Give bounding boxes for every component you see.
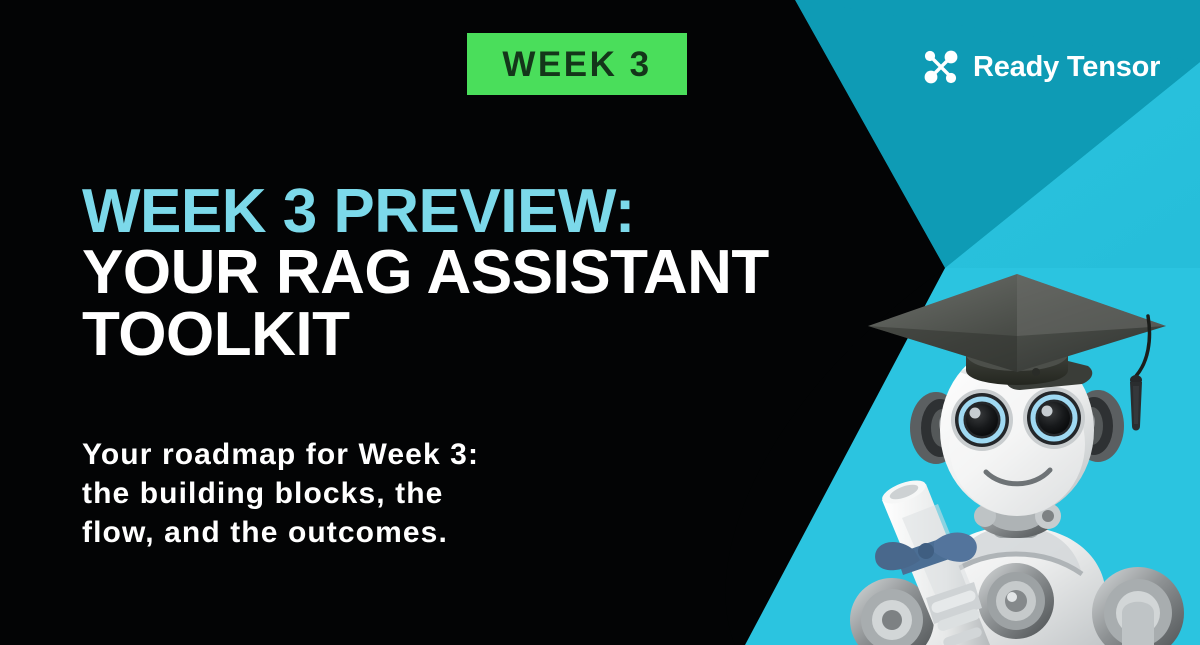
node-network-icon: [921, 47, 961, 87]
brand-logo-text: Ready Tensor: [973, 53, 1160, 82]
subtitle-line-2: the building blocks, the: [82, 474, 702, 513]
subtitle-line-1: Your roadmap for Week 3:: [82, 435, 702, 474]
subtitle: Your roadmap for Week 3: the building bl…: [82, 435, 702, 552]
headline-line-2: YOUR RAG ASSISTANT: [82, 242, 862, 303]
banner-canvas: WEEK 3 Ready Tensor WEEK 3 PREVIEW: YOUR…: [0, 0, 1200, 645]
headline: WEEK 3 PREVIEW: YOUR RAG ASSISTANT TOOLK…: [82, 181, 862, 365]
brand-logo[interactable]: Ready Tensor: [921, 47, 1160, 87]
week-badge: WEEK 3: [467, 33, 687, 95]
week-badge-label: WEEK 3: [502, 47, 651, 82]
headline-line-1: WEEK 3 PREVIEW:: [82, 181, 862, 242]
headline-line-3: TOOLKIT: [82, 304, 862, 365]
subtitle-line-3: flow, and the outcomes.: [82, 513, 702, 552]
